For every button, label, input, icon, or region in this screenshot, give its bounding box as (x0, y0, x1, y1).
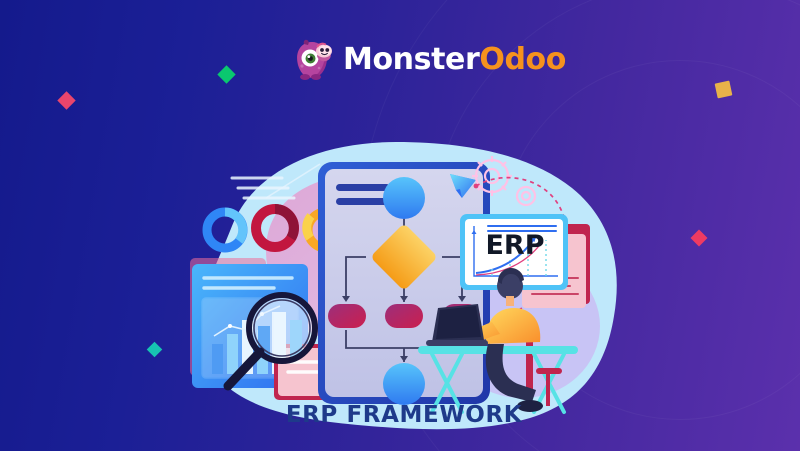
flow-end-node (383, 363, 425, 405)
monitor-erp-label: ERP (485, 230, 544, 261)
diamond-red-top-left (57, 91, 75, 109)
diamond-green-top-left (217, 65, 235, 83)
brand-name-part-two: Odoo (479, 42, 566, 77)
diamond-pink-right (691, 230, 708, 247)
diamond-teal-bottom-left (147, 342, 163, 358)
promo-banner: MonsterOdoo (0, 0, 800, 451)
brand-name-part-one: Monster (343, 42, 479, 77)
brand-logo[interactable]: MonsterOdoo (292, 36, 566, 84)
monster-mascot-icon (292, 38, 334, 82)
illustration-caption: ERP FRAMEWORK (286, 402, 523, 428)
brand-wordmark: MonsterOdoo (343, 45, 566, 75)
flow-process-node-2 (385, 304, 423, 328)
flow-process-node-1 (328, 304, 366, 328)
square-yellow-top-right (715, 81, 733, 99)
erp-illustration: ERP (170, 130, 640, 440)
flow-start-node (383, 177, 425, 219)
